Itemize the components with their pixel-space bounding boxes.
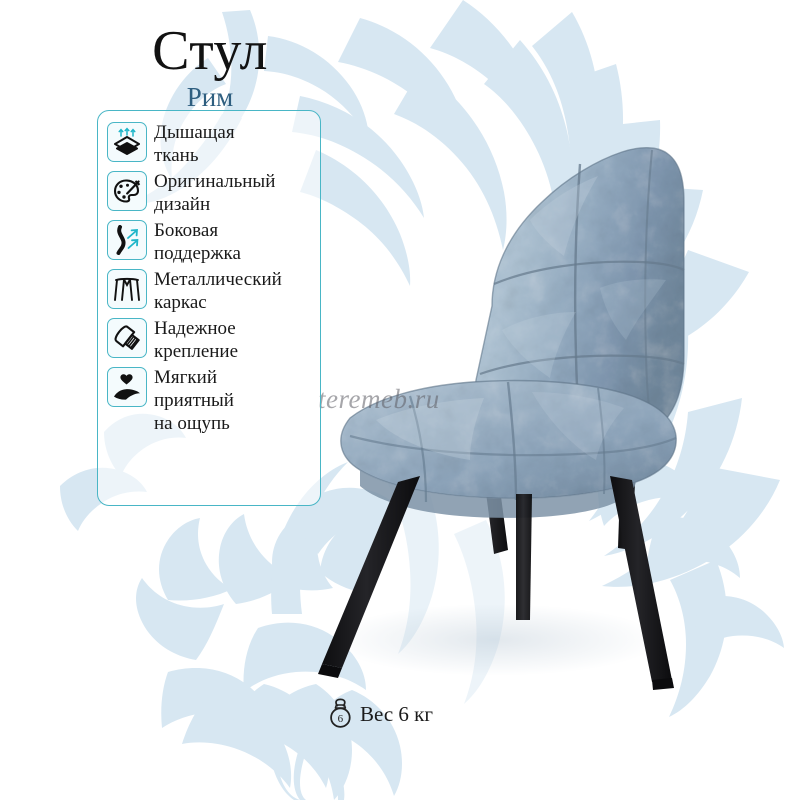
feature-list: Дышащая ткань Оригинальный дизайн [107,120,314,435]
palette-icon [107,171,147,211]
feature-label: Надежное крепление [154,316,238,363]
feature-label: Боковая поддержка [154,218,241,265]
feature-panel: Дышащая ткань Оригинальный дизайн [97,110,321,506]
weight-label: Вес 6 кг [360,704,433,725]
feature-label: Оригинальный дизайн [154,169,275,216]
feature-item-original-design: Оригинальный дизайн [107,169,314,216]
feature-item-breathable-fabric: Дышащая ткань [107,120,314,167]
feature-item-soft-touch: Мягкий приятный на ощупь [107,365,314,435]
product-image-chair [280,120,700,700]
side-support-icon [107,220,147,260]
metal-frame-icon [107,269,147,309]
feature-label: Мягкий приятный на ощупь [154,365,234,435]
feature-label: Металлический каркас [154,267,282,314]
product-infographic-page: Стул Рим [0,0,800,800]
feature-label: Дышащая ткань [154,120,235,167]
feature-item-side-support: Боковая поддержка [107,218,314,265]
weight-badge: 6 Вес 6 кг [326,698,433,730]
product-title-block: Стул Рим [0,22,420,112]
breathable-fabric-icon [107,122,147,162]
product-model-name: Рим [0,82,420,112]
bolt-icon [107,318,147,358]
feature-item-reliable-fastening: Надежное крепление [107,316,314,363]
kettlebell-number: 6 [338,713,344,725]
page-title: Стул [0,22,420,80]
kettlebell-icon: 6 [326,698,356,730]
feature-item-metal-frame: Металлический каркас [107,267,314,314]
hand-heart-icon [107,367,147,407]
